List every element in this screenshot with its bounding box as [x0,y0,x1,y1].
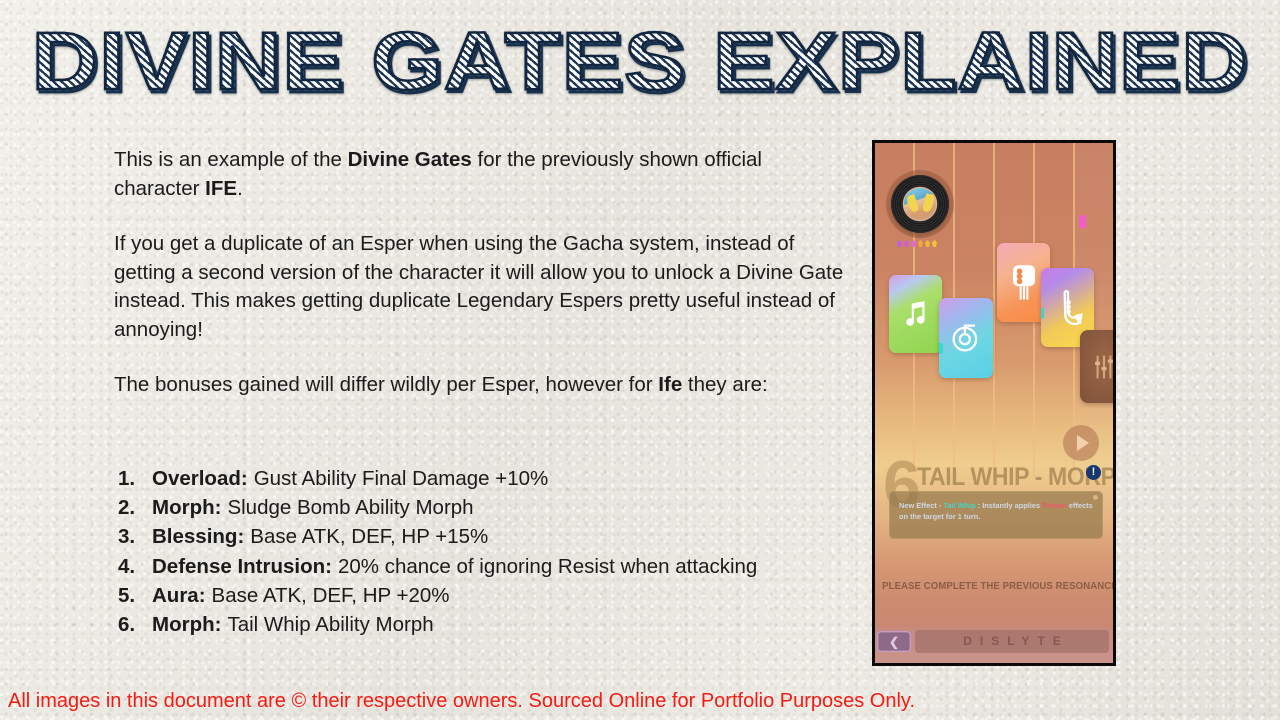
gem-indicator-row [897,240,937,247]
list-item-desc: 20% chance of ignoring Resist when attac… [338,552,757,581]
list-number: 3. [118,522,152,551]
gem-icon [925,240,930,247]
gem-icon [911,240,916,247]
list-item-name: Blessing: [152,522,244,551]
play-triangle-icon [1077,435,1089,451]
gem-icon [918,240,923,247]
list-item: 3.Blessing:Base ATK, DEF, HP +15% [118,522,878,551]
list-item-name: Aura: [152,581,206,610]
p1-bold-ife: IFE [205,177,237,200]
list-number: 6. [118,610,152,639]
game-screen-background: 6 TAIL WHIP - MORPH ! New Effect - Tail … [875,143,1113,663]
p1-part-a: This is an example of the [114,148,348,171]
list-item-desc: Tail Whip Ability Morph [227,610,433,639]
p3-part-a: The bonuses gained will differ wildly pe… [114,373,658,396]
p3-part-c: they are: [682,373,767,396]
tooltip-text: New Effect - Tail Whip : Instantly appli… [899,500,1095,522]
copyright-footer: All images in this document are © their … [8,688,915,714]
card-tab [939,343,943,354]
list-item: 2.Morph:Sludge Bomb Ability Morph [118,493,878,522]
avatar-portrait [904,188,936,220]
title-area: DIVINE GATES EXPLAINED [0,16,1280,108]
p1-bold-divine-gates: Divine Gates [348,148,472,171]
card-tab [1041,308,1044,319]
p3-bold-ife: Ife [658,373,682,396]
lane-marker [1079,215,1086,228]
gem-icon [897,240,902,247]
music-notes-icon [889,275,942,353]
list-item-desc: Base ATK, DEF, HP +15% [250,522,488,551]
music-notes-card[interactable] [889,275,942,353]
effect-tooltip: New Effect - Tail Whip : Instantly appli… [889,491,1103,539]
divine-gate-list: 1.Overload:Gust Ability Final Damage +10… [118,464,878,639]
list-item-name: Morph: [152,493,221,522]
tooltip-mid: : Instantly applies [976,501,1043,510]
mixer-sliders-icon [1080,330,1116,403]
locked-card[interactable] [1080,330,1116,403]
tooltip-skill: Tail Whip [943,501,975,510]
tooltip-status: Poison [1042,501,1067,510]
list-number: 4. [118,552,152,581]
game-brand-label: DISLYTE [915,630,1109,653]
cymbal-icon [939,298,993,378]
p1-part-d: . [237,177,243,200]
play-button[interactable] [1063,425,1099,461]
list-item: 4.Defense Intrusion:20% chance of ignori… [118,552,878,581]
list-item: 5.Aura:Base ATK, DEF, HP +20% [118,581,878,610]
list-number: 1. [118,464,152,493]
list-number: 2. [118,493,152,522]
list-item-desc: Sludge Bomb Ability Morph [227,493,473,522]
info-badge-icon[interactable]: ! [1086,465,1101,480]
list-item-name: Overload: [152,464,248,493]
esper-avatar[interactable] [891,175,949,233]
list-item-desc: Base ATK, DEF, HP +20% [212,581,450,610]
game-screenshot: 6 TAIL WHIP - MORPH ! New Effect - Tail … [872,140,1116,666]
paragraph-bonuses: The bonuses gained will differ wildly pe… [114,371,844,400]
list-item-desc: Gust Ability Final Damage +10% [254,464,549,493]
gem-icon [932,240,937,247]
list-item: 1.Overload:Gust Ability Final Damage +10… [118,464,878,493]
resonance-notice: PLEASE COMPLETE THE PREVIOUS RESONANCE F… [882,581,1106,592]
list-item-name: Morph: [152,610,221,639]
slide-canvas: DIVINE GATES EXPLAINED This is an exampl… [0,0,1280,720]
track-lane-line [993,143,995,478]
list-item-name: Defense Intrusion: [152,552,332,581]
list-item: 6.Morph:Tail Whip Ability Morph [118,610,878,639]
paragraph-duplicate: If you get a duplicate of an Esper when … [114,230,844,344]
tooltip-lead: New Effect - [899,501,943,510]
list-number: 5. [118,581,152,610]
body-copy: This is an example of the Divine Gates f… [114,146,844,427]
back-button[interactable]: ❮ [877,631,911,652]
step-title: TAIL WHIP - MORPH [917,463,1116,492]
gem-icon [904,240,909,247]
bottom-bar: ❮ DISLYTE [875,627,1113,663]
paragraph-intro: This is an example of the Divine Gates f… [114,146,844,203]
page-title: DIVINE GATES EXPLAINED [31,16,1248,108]
cymbal-card[interactable] [939,298,993,378]
